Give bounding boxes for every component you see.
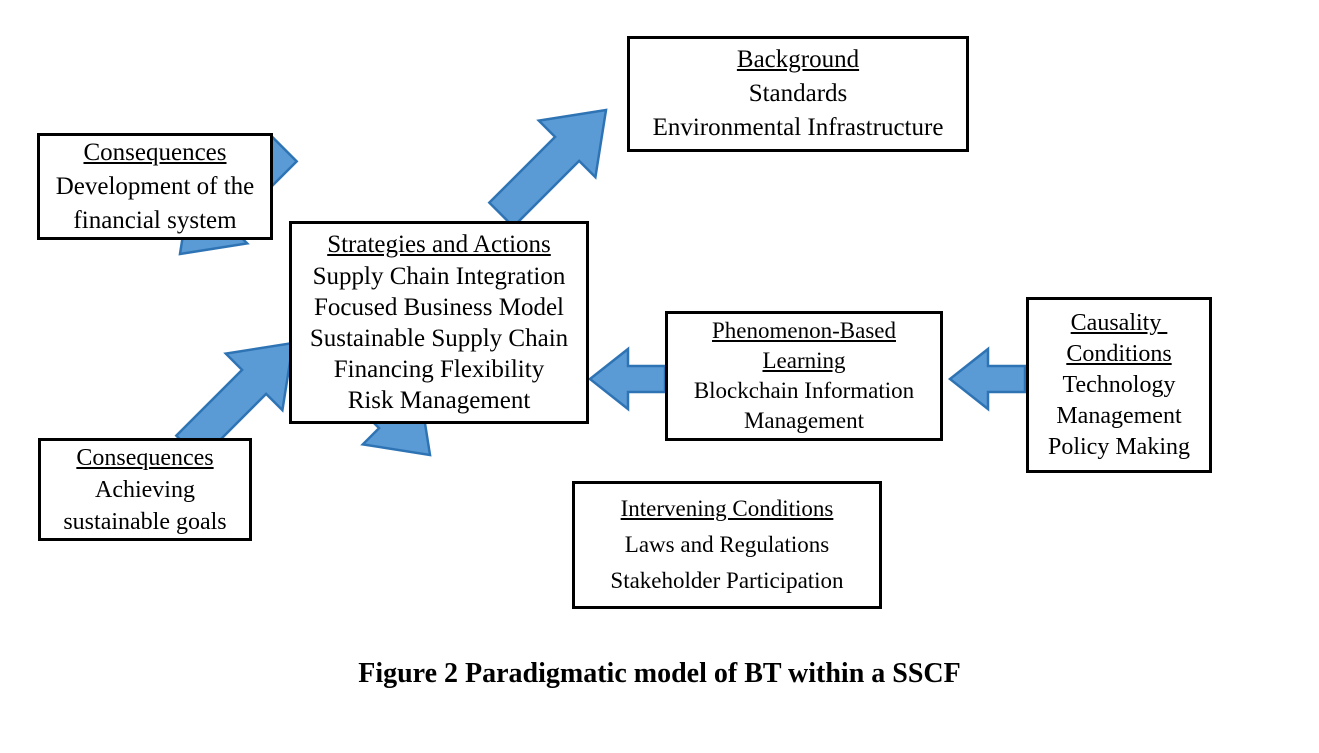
box-consequences-financial-header: Consequences xyxy=(83,136,226,170)
box-causality-header-line-1: Causality xyxy=(1071,308,1168,339)
box-consequences-financial-line-1: Development of the xyxy=(56,170,255,204)
box-intervening-conditions: Intervening Conditions Laws and Regulati… xyxy=(572,481,882,609)
box-strategies-line-1: Supply Chain Integration xyxy=(313,261,566,292)
box-consequences-goals-header: Consequences xyxy=(76,442,213,474)
box-causality-line-1: Technology xyxy=(1063,370,1176,401)
arrow-causality-to-phenomenon xyxy=(950,349,1025,409)
box-consequences-goals-line-2: sustainable goals xyxy=(63,506,226,538)
box-background-line-1: Standards xyxy=(749,77,848,111)
box-causality-line-2: Management xyxy=(1056,401,1181,432)
box-strategies-line-3: Sustainable Supply Chain xyxy=(310,323,568,354)
box-phenomenon-header-line-1: Phenomenon-Based xyxy=(712,316,896,346)
box-causality-conditions: Causality Conditions Technology Manageme… xyxy=(1026,297,1212,473)
figure-canvas: Background Standards Environmental Infra… xyxy=(0,0,1319,753)
box-consequences-financial-line-2: financial system xyxy=(73,204,236,238)
box-background: Background Standards Environmental Infra… xyxy=(627,36,969,152)
arrow-background-to-strategies xyxy=(473,82,634,243)
box-intervening-header: Intervening Conditions xyxy=(621,491,834,527)
box-background-header: Background xyxy=(737,43,859,77)
box-causality-header-line-2: Conditions xyxy=(1066,339,1171,370)
box-strategies-line-4: Financing Flexibility xyxy=(334,354,544,385)
box-strategies-line-2: Focused Business Model xyxy=(314,292,564,323)
box-strategies-line-5: Risk Management xyxy=(348,385,531,416)
arrow-phenomenon-to-strategies xyxy=(590,349,665,409)
box-causality-line-3: Policy Making xyxy=(1048,432,1190,463)
box-intervening-line-2: Stakeholder Participation xyxy=(610,563,843,599)
box-consequences-goals: Consequences Achieving sustainable goals xyxy=(38,438,252,541)
box-intervening-line-1: Laws and Regulations xyxy=(625,527,829,563)
box-phenomenon-based-learning: Phenomenon-Based Learning Blockchain Inf… xyxy=(665,311,943,441)
box-background-line-2: Environmental Infrastructure xyxy=(653,111,944,145)
figure-caption: Figure 2 Paradigmatic model of BT within… xyxy=(0,658,1319,690)
box-strategies-and-actions: Strategies and Actions Supply Chain Inte… xyxy=(289,221,589,424)
box-phenomenon-header-line-2: Learning xyxy=(762,346,845,376)
box-consequences-financial: Consequences Development of the financia… xyxy=(37,133,273,240)
box-consequences-goals-line-1: Achieving xyxy=(95,474,195,506)
box-phenomenon-line-1: Blockchain Information xyxy=(694,376,914,406)
box-phenomenon-line-2: Management xyxy=(744,406,864,436)
box-strategies-header: Strategies and Actions xyxy=(327,229,551,260)
